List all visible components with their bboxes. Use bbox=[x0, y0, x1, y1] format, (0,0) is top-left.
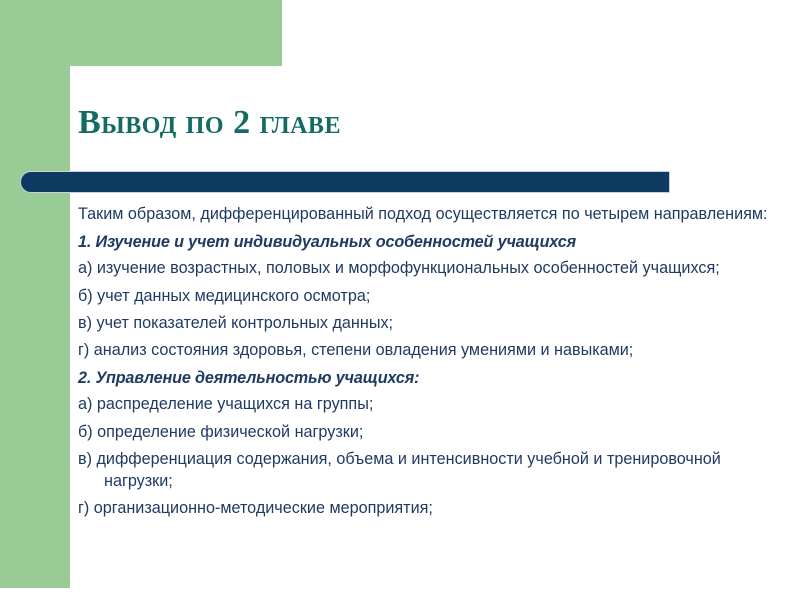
item-1b: б) учет данных медицинского осмотра; bbox=[78, 285, 784, 307]
green-side-strip bbox=[0, 0, 70, 588]
item-1g: г) анализ состояния здоровья, степени ов… bbox=[78, 339, 784, 361]
section-1-heading: 1. Изучение и учет индивидуальных особен… bbox=[78, 231, 784, 253]
item-2g: г) организационно-методические мероприят… bbox=[78, 497, 784, 519]
slide-title: Вывод по 2 главе bbox=[78, 105, 738, 141]
item-2b: б) определение физической нагрузки; bbox=[78, 421, 784, 443]
section-2-heading: 2. Управление деятельностью учащихся: bbox=[78, 367, 784, 389]
presentation-slide: Вывод по 2 главе Таким образом, дифферен… bbox=[0, 0, 800, 600]
item-2v: в) дифференциация содержания, объема и и… bbox=[78, 448, 784, 492]
body-intro: Таким образом, дифференцированный подход… bbox=[78, 203, 784, 225]
slide-body: Таким образом, дифференцированный подход… bbox=[78, 203, 784, 520]
item-2a: а) распределение учащихся на группы; bbox=[78, 393, 784, 415]
title-accent-bar bbox=[20, 171, 670, 193]
item-1v: в) учет показателей контрольных данных; bbox=[78, 312, 784, 334]
item-1a: а) изучение возрастных, половых и морфоф… bbox=[78, 257, 784, 279]
